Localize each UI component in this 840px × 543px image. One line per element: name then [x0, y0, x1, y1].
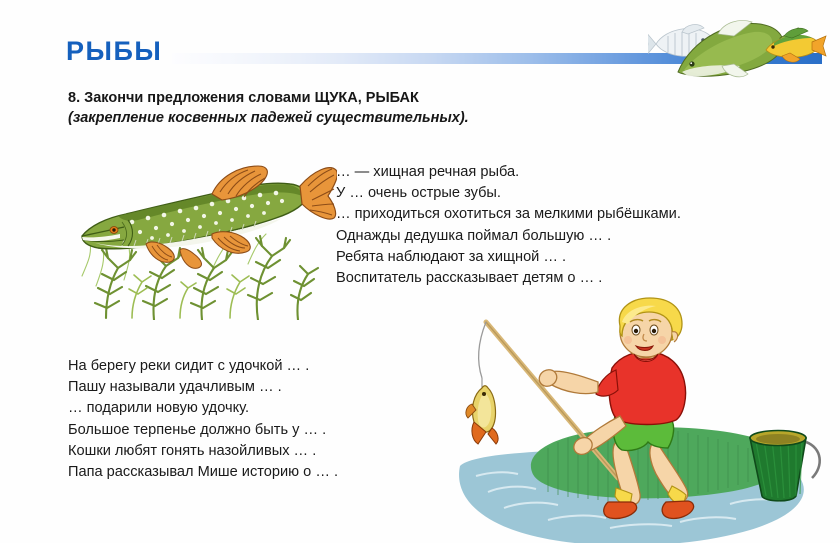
task-title: 8. Закончи предложения словами ЩУКА, РЫБ…: [68, 88, 628, 108]
pike-fish-icon: [82, 166, 337, 268]
sentence-line: … — хищная речная рыба.: [336, 162, 836, 183]
worksheet-page: РЫБЫ: [0, 0, 840, 543]
sentence-line: Папа рассказывал Мише историю о … .: [68, 462, 468, 483]
page-header: РЫБЫ: [0, 0, 840, 85]
sentence-line: Пашу называли удачливым … .: [68, 377, 468, 398]
caught-fish-icon: [466, 378, 498, 444]
fishing-line-icon: [479, 322, 486, 378]
sentence-line: У … очень острые зубы.: [336, 183, 836, 204]
task-subtitle: (закрепление косвенных падежей существит…: [68, 108, 628, 129]
bucket-icon: [750, 431, 820, 501]
sentence-line: Кошки любят гонять назойливых … .: [68, 441, 468, 462]
pike-illustration: [62, 158, 337, 320]
sentence-list-fisherman: На берегу реки сидит с удочкой … . Пашу …: [68, 356, 468, 483]
sentence-line: Ребята наблюдают за хищной … .: [336, 247, 836, 268]
sentence-line: Большое терпенье должно быть у … .: [68, 420, 468, 441]
sentence-line: На берегу реки сидит с удочкой … .: [68, 356, 468, 377]
sentence-line: Однажды дедушка поймал большую … .: [336, 226, 836, 247]
sentence-list-pike: … — хищная речная рыба. У … очень острые…: [336, 162, 836, 289]
page-title: РЫБЫ: [66, 38, 162, 65]
sentence-line: Воспитатель рассказывает детям о … .: [336, 268, 836, 289]
task-instruction-block: 8. Закончи предложения словами ЩУКА, РЫБ…: [68, 88, 628, 129]
sentence-line: … подарили новую удочку.: [68, 398, 468, 419]
header-fish-cluster-icon: [648, 16, 840, 78]
sentence-line: … приходиться охотиться за мелкими рыбёш…: [336, 204, 836, 225]
boy-fishing-illustration: [440, 296, 840, 543]
